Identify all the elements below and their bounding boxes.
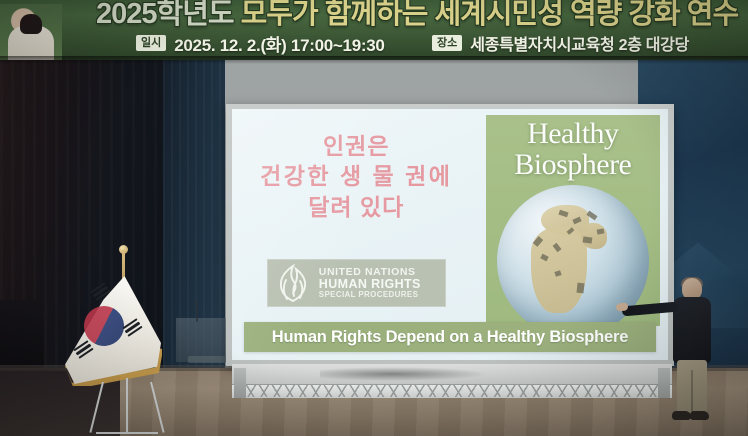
headline-line-2: Biosphere [514, 148, 631, 181]
projection-screen-frame: 인권은 건강한 생 물 권에 달려 있다 [226, 104, 674, 366]
banner-drop-shadow [0, 56, 748, 64]
presenter-shoe-right [690, 411, 709, 420]
un-logo-line2: HUMAN RIGHTS [319, 278, 421, 291]
truss-smudge [320, 366, 500, 382]
event-banner: 2025학년도 모두가 함께하는 세계시민성 역량 강화 연수 일시 2025.… [0, 0, 748, 60]
banner-date-group: 일시 2025. 12. 2.(화) 17:00~19:30 [136, 31, 385, 55]
presenter-shoe-left [672, 411, 691, 420]
korean-line-2: 건강한 생 물 권에 [232, 161, 481, 191]
banner-person-photo [0, 4, 62, 60]
banner-place-group: 장소 세종특별자치시교육청 2층 대강당 [432, 31, 689, 55]
auditorium-scene: 2025학년도 모두가 함께하는 세계시민성 역량 강화 연수 일시 2025.… [0, 0, 748, 436]
slide-caption-bar: Human Rights Depend on a Healthy Biosphe… [244, 322, 656, 352]
banner-date-tag: 일시 [136, 35, 166, 51]
korean-flag [62, 250, 168, 436]
headline-line-1: Healthy [527, 117, 618, 150]
banner-title: 2025학년도 모두가 함께하는 세계시민성 역량 강화 연수 [96, 0, 748, 30]
presenter-jacket [673, 297, 711, 363]
banner-title-year: 2025학년도 [96, 0, 234, 30]
truss-leg-left [234, 368, 246, 398]
korean-line-1: 인권은 [232, 131, 481, 161]
stage-truss-lattice [240, 385, 664, 397]
un-logo-line3: SPECIAL PROCEDURES [319, 291, 421, 299]
banner-place-tag: 장소 [432, 35, 462, 51]
projection-screen: 인권은 건강한 생 물 권에 달려 있다 [232, 109, 668, 360]
slide-right-panel: Healthy Biosphere [486, 115, 660, 326]
korean-line-3: 달려 있다 [232, 192, 481, 222]
un-flame-emblem-icon [275, 263, 311, 303]
un-logo-text: UNITED NATIONS HUMAN RIGHTS SPECIAL PROC… [319, 267, 421, 299]
microphone-stand [196, 300, 198, 322]
banner-place-value: 세종특별자치시교육청 2층 대강당 [470, 31, 689, 55]
slide-headline: Healthy Biosphere [486, 119, 660, 181]
presenter [666, 278, 724, 428]
slide-korean-text: 인권은 건강한 생 물 권에 달려 있다 [232, 131, 481, 222]
banner-date-value: 2025. 12. 2.(화) 17:00~19:30 [174, 31, 384, 56]
banner-title-highlight: 모두가 함께하는 세계시민성 역량 강화 연수 [241, 0, 739, 30]
slide-caption-text: Human Rights Depend on a Healthy Biosphe… [272, 328, 629, 347]
presenter-trousers [677, 360, 707, 414]
un-human-rights-logo: UNITED NATIONS HUMAN RIGHTS SPECIAL PROC… [267, 259, 446, 307]
flag-stand [96, 382, 158, 434]
